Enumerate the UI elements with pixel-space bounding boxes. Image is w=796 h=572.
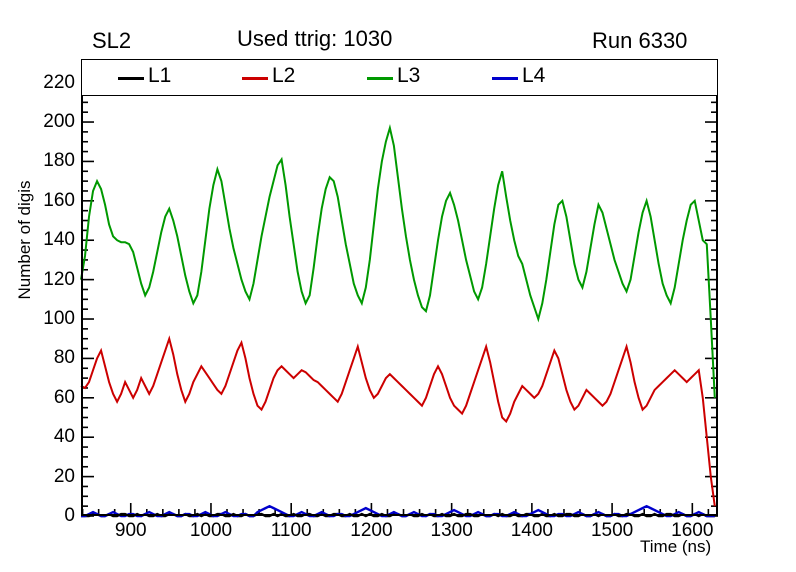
y-tick-label: 160 (9, 190, 75, 212)
y-tick-label: 80 (9, 347, 75, 369)
title-run: Run 6330 (592, 28, 687, 54)
legend-swatch-l3-icon (367, 77, 393, 80)
x-tick-label: 1500 (577, 520, 647, 542)
title-ttrig: Used ttrig: 1030 (237, 26, 392, 52)
plot-frame (81, 59, 718, 516)
x-tick-label: 1200 (336, 520, 406, 542)
legend-swatch-l1-icon (118, 77, 144, 80)
y-tick-label: 0 (9, 505, 75, 527)
legend-swatch-l2-icon (242, 77, 268, 80)
legend-label: L4 (522, 64, 545, 88)
legend-label: L2 (272, 64, 295, 88)
x-tick-label: 1000 (176, 520, 246, 542)
y-tick-label: 120 (9, 269, 75, 291)
title-superlayer: SL2 (92, 28, 131, 54)
y-tick-label: 20 (9, 466, 75, 488)
x-tick-label: 900 (96, 520, 166, 542)
legend-box: L1L2L3L4 (81, 59, 718, 96)
x-tick-label: 1100 (256, 520, 326, 542)
plot-area (81, 59, 718, 516)
x-tick-label: 1400 (497, 520, 567, 542)
chart-canvas: SL2 Used ttrig: 1030 Run 6330 Number of … (0, 0, 796, 572)
legend-label: L3 (397, 64, 420, 88)
y-tick-label: 140 (9, 229, 75, 251)
y-tick-label: 200 (9, 111, 75, 133)
legend-swatch-l4-icon (492, 77, 518, 80)
y-tick-label: 60 (9, 387, 75, 409)
y-tick-label: 220 (9, 72, 75, 94)
y-tick-label: 40 (9, 426, 75, 448)
x-tick-label: 1300 (417, 520, 487, 542)
legend-label: L1 (148, 64, 171, 88)
x-tick-label: 1600 (657, 520, 727, 542)
y-tick-label: 100 (9, 308, 75, 330)
y-tick-label: 180 (9, 150, 75, 172)
